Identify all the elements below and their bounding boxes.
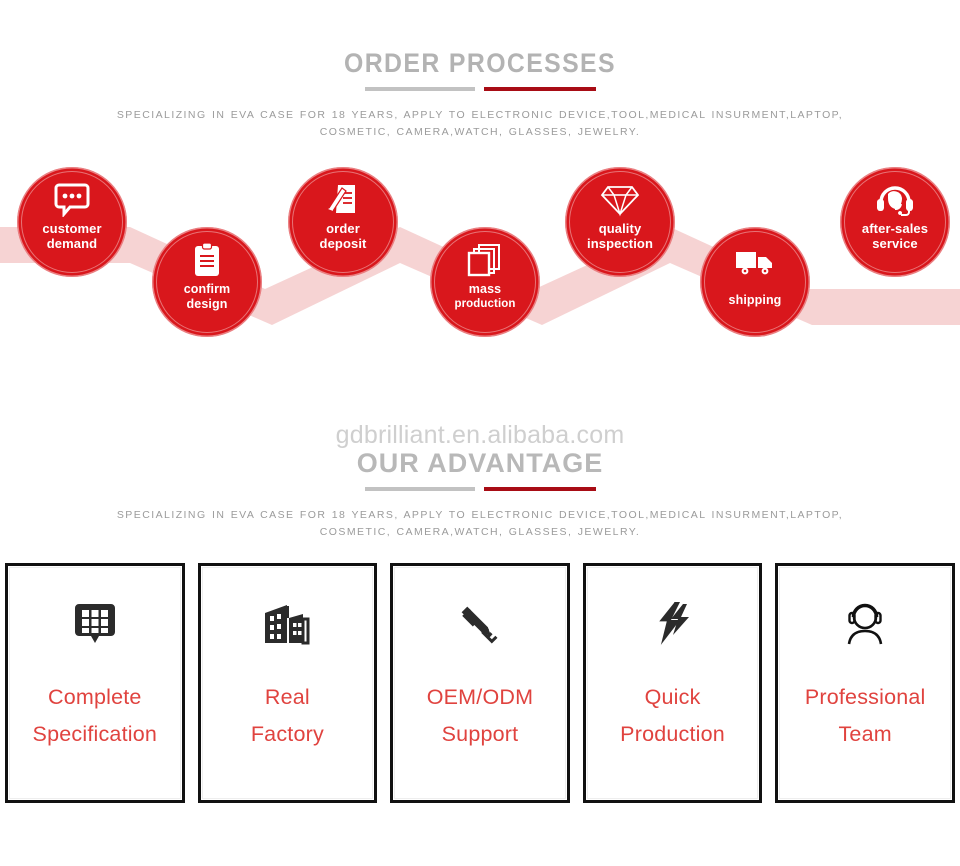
speech-bubble-dots-icon [53, 182, 91, 218]
order-processes-subtitle: SPECIALIZING IN EVA CASE FOR 18 YEARS, A… [85, 107, 875, 141]
subtitle-line-1: SPECIALIZING IN EVA CASE FOR 18 YEARS, A… [85, 507, 875, 524]
page-title: ORDER PROCESSES [38, 47, 921, 79]
advantage-card-label: Quick Production [620, 679, 725, 753]
pencil-design-icon [455, 599, 505, 651]
subtitle-line-2: COSMETIC, CAMERA,WATCH, GLASSES, JEWELRY… [85, 124, 875, 141]
advantage-card-label: Complete Specification [33, 679, 158, 753]
section-title: OUR ADVANTAGE [0, 447, 960, 479]
delivery-truck-icon [734, 245, 776, 281]
advantage-card-complete-specification[interactable]: Complete Specification [5, 563, 185, 803]
process-step-label: shipping [725, 293, 786, 308]
process-step-quality-inspection[interactable]: quality inspection [565, 167, 675, 277]
advantage-card-professional-team[interactable]: Professional Team [775, 563, 955, 803]
signed-document-pen-icon [325, 182, 361, 218]
stacked-sheets-icon [466, 242, 504, 278]
advantage-card-real-factory[interactable]: Real Factory [198, 563, 378, 803]
double-lightning-bolt-icon [650, 599, 696, 651]
subtitle-line-2: COSMETIC, CAMERA,WATCH, GLASSES, JEWELRY… [85, 524, 875, 541]
advantage-card-label: Professional Team [805, 679, 926, 753]
process-step-after-sales-service[interactable]: after-sales service [840, 167, 950, 277]
rule-red [484, 87, 596, 91]
advantage-card-label: Real Factory [251, 679, 324, 753]
watermark: gdbrilliant.en.alibaba.com [0, 421, 960, 450]
process-step-label: confirm design [180, 282, 235, 311]
rule-gray [365, 87, 475, 91]
our-advantage-heading-block: gdbrilliant.en.alibaba.com OUR ADVANTAGE… [0, 413, 960, 543]
order-processes-heading: ORDER PROCESSES [0, 0, 960, 91]
heading-rules [0, 487, 960, 491]
subtitle-line-1: SPECIALIZING IN EVA CASE FOR 18 YEARS, A… [85, 107, 875, 124]
process-step-label: order deposit [316, 222, 371, 251]
process-step-label: after-sales service [858, 222, 932, 251]
process-step-label: quality inspection [583, 222, 657, 251]
process-step-label: mass production [450, 282, 519, 311]
advantage-card-quick-production[interactable]: Quick Production [583, 563, 763, 803]
grid-keypad-icon [71, 599, 119, 651]
headset-agent-icon [875, 182, 915, 218]
process-flow: customer demand confirm design [0, 157, 960, 357]
process-step-mass-production[interactable]: mass production [430, 227, 540, 337]
factory-buildings-icon [261, 599, 313, 651]
diamond-icon [600, 182, 640, 218]
rule-gray [365, 487, 475, 491]
process-step-customer-demand[interactable]: customer demand [17, 167, 127, 277]
advantage-card-oem-odm-support[interactable]: OEM/ODM Support [390, 563, 570, 803]
process-step-label: customer demand [38, 222, 105, 251]
process-step-confirm-design[interactable]: confirm design [152, 227, 262, 337]
advantage-card-label: OEM/ODM Support [427, 679, 534, 753]
process-step-shipping[interactable]: shipping [700, 227, 810, 337]
heading-rules [0, 87, 960, 91]
our-advantage-heading: OUR ADVANTAGE SPECIALIZING IN EVA CASE F… [0, 447, 960, 541]
process-step-order-deposit[interactable]: order deposit [288, 167, 398, 277]
clipboard-icon [192, 242, 222, 278]
product-detail-page: ORDER PROCESSES SPECIALIZING IN EVA CASE… [0, 0, 960, 866]
our-advantage-subtitle: SPECIALIZING IN EVA CASE FOR 18 YEARS, A… [85, 507, 875, 541]
headset-person-icon [840, 599, 890, 651]
rule-red [484, 487, 596, 491]
advantage-card-list: Complete Specification [5, 563, 955, 803]
